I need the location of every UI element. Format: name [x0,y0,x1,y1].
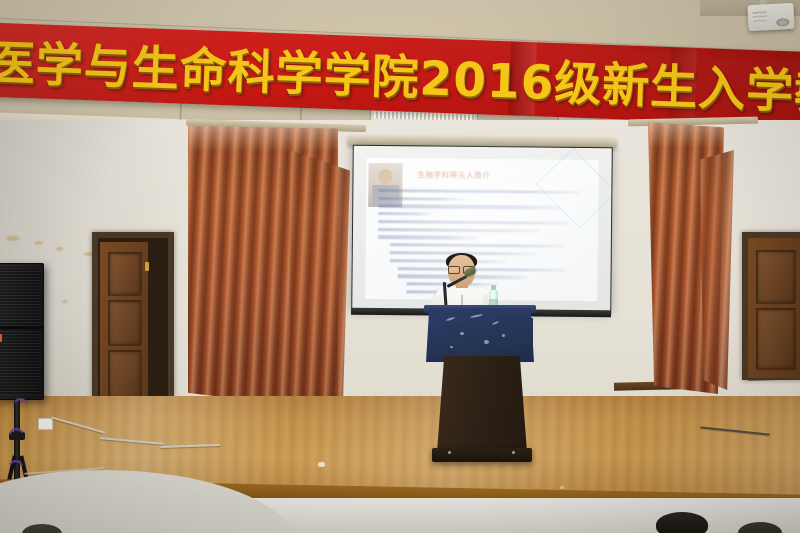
auditorium-photo: 医学与生命科学学院2016级新生入学教育 [0,0,800,533]
audience-member [656,512,708,533]
speaker-grille [0,267,41,395]
wall-smudge [34,241,43,245]
floor-debris [560,486,564,489]
slide-title: 生物学科带头人简介 [417,169,490,181]
projector-lens-icon [776,18,789,27]
wall-smudge [56,247,63,251]
wall-outlet[interactable] [38,418,53,430]
pa-loudspeaker [0,263,44,400]
wall-smudge [6,236,20,241]
wall-smudge [62,300,68,303]
door-left[interactable] [100,242,148,408]
door-handle-left[interactable] [145,262,149,271]
podium-foot [432,448,532,462]
podium-front-panel [429,318,533,356]
podium-base [437,356,527,452]
door-right[interactable] [748,238,800,378]
floor-debris [318,462,325,467]
stage-curtain-left-fold [290,150,350,408]
projector [747,3,794,31]
brand-logo [0,334,2,342]
projector-vent [753,9,768,22]
